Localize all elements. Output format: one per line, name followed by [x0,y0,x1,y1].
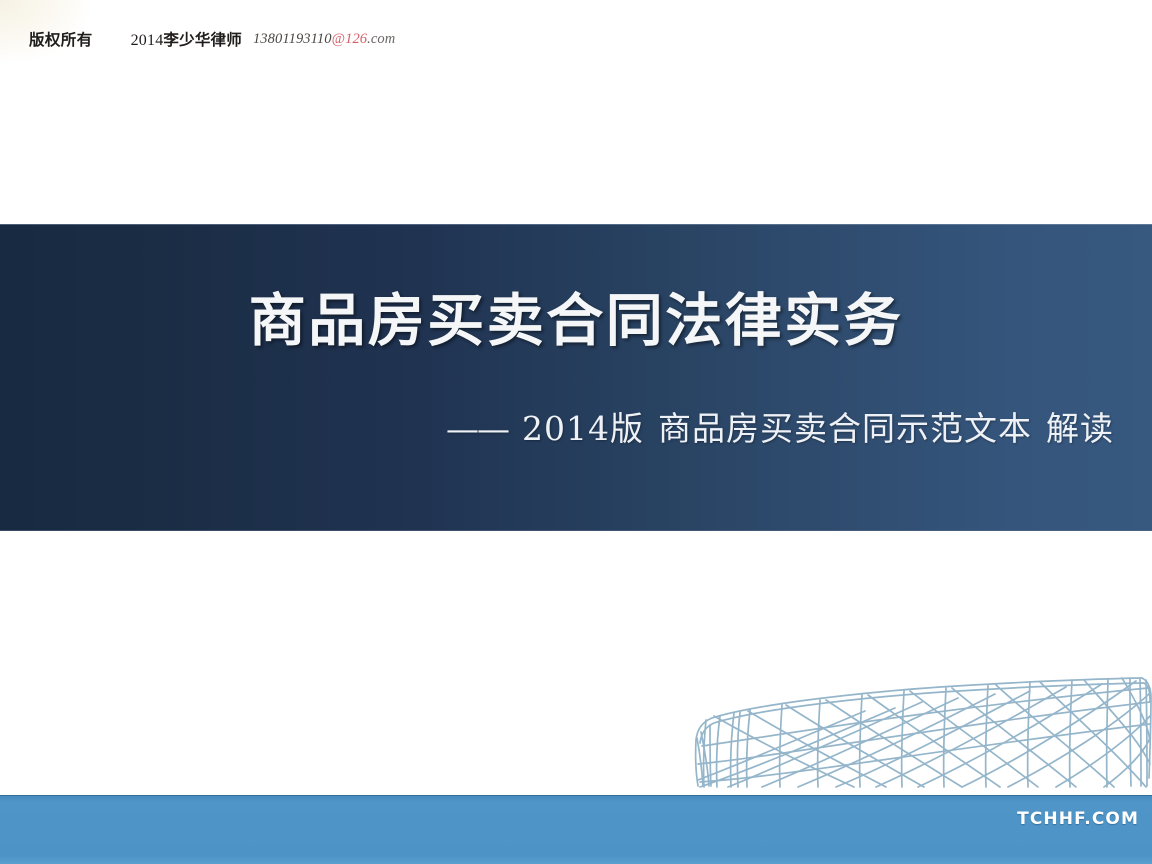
subtitle-version: 2014版 [522,409,644,448]
subtitle-document: 商品房买卖合同示范文本 [658,409,1032,448]
author-email: 13801193110@126.com [253,31,395,48]
copyright-year: 2014 [131,32,164,49]
site-logo[interactable]: TCHHF.COM [1017,809,1139,829]
presentation-slide: 版权所有 2014李少华律师 13801193110@126.com 商品房买卖… [0,0,1152,864]
page-subtitle: ——2014版商品房买卖合同示范文本解读 [0,410,1114,448]
birds-nest-stadium-icon [690,668,1152,800]
title-band: 商品房买卖合同法律实务 ——2014版商品房买卖合同示范文本解读 [0,224,1152,531]
email-at-symbol: @ [332,31,345,47]
copyright-label: 版权所有 [29,28,93,50]
subtitle-dash: —— [446,409,508,448]
author-name: 李少华律师 [163,31,242,49]
subtitle-action: 解读 [1046,409,1114,448]
email-local-part: 13801193110 [253,31,332,47]
email-tld: .com [367,31,395,47]
footer-bar: TCHHF.COM [0,795,1152,864]
copyright-header: 版权所有 2014李少华律师 13801193110@126.com [0,0,1152,78]
author-credit: 2014李少华律师 [131,28,242,50]
page-title: 商品房买卖合同法律实务 [0,290,1152,352]
title-band-inner: 商品房买卖合同法律实务 ——2014版商品房买卖合同示范文本解读 [0,224,1152,531]
email-domain: 126 [345,31,367,47]
